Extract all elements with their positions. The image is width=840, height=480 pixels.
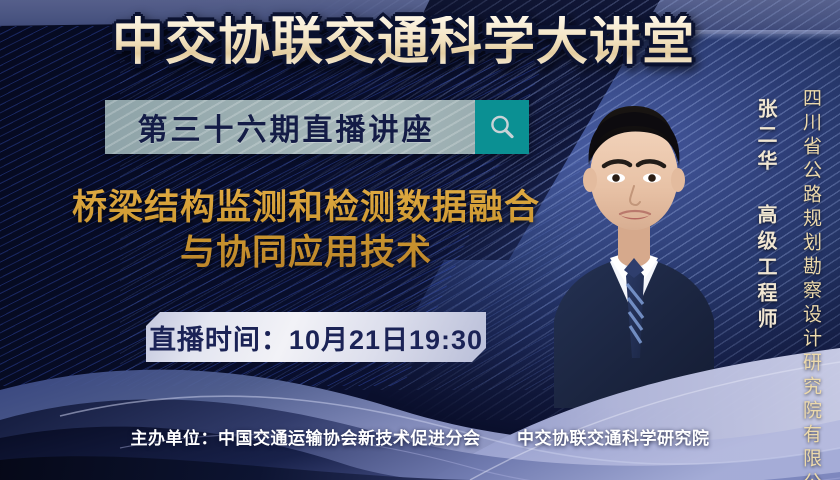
episode-bar: 第三十六期直播讲座 xyxy=(105,100,529,154)
organizer-primary: 主办单位：中国交通运输协会新技术促进分会 xyxy=(131,429,481,448)
lecture-topic-line2: 与协同应用技术 xyxy=(46,231,566,276)
live-lecture-poster: 中交协联交通科学大讲堂 第三十六期直播讲座 桥梁结构监测和检测数据融合 与协同应… xyxy=(0,0,840,480)
page-title: 中交协联交通科学大讲堂 xyxy=(112,16,695,68)
lecture-topic: 桥梁结构监测和检测数据融合 与协同应用技术 xyxy=(46,186,566,276)
search-icon-container[interactable] xyxy=(475,100,529,154)
lecture-topic-line1: 桥梁结构监测和检测数据融合 xyxy=(72,188,540,227)
organizers-footer: 主办单位：中国交通运输协会新技术促进分会 中交协联交通科学研究院 xyxy=(0,424,840,449)
broadcast-time-badge: 直播时间：10月21日19:30 xyxy=(146,312,486,362)
organizer-secondary: 中交协联交通科学研究院 xyxy=(517,429,710,448)
episode-label: 第三十六期直播讲座 xyxy=(105,105,475,149)
speaker-company: 四川省公路规划勘察设计研究院有限公司 xyxy=(797,88,824,480)
speaker-name-title: 张二华 高级工程师 xyxy=(751,98,780,334)
broadcast-time-label: 直播时间：10月21日19:30 xyxy=(149,318,483,357)
search-icon xyxy=(487,112,517,142)
